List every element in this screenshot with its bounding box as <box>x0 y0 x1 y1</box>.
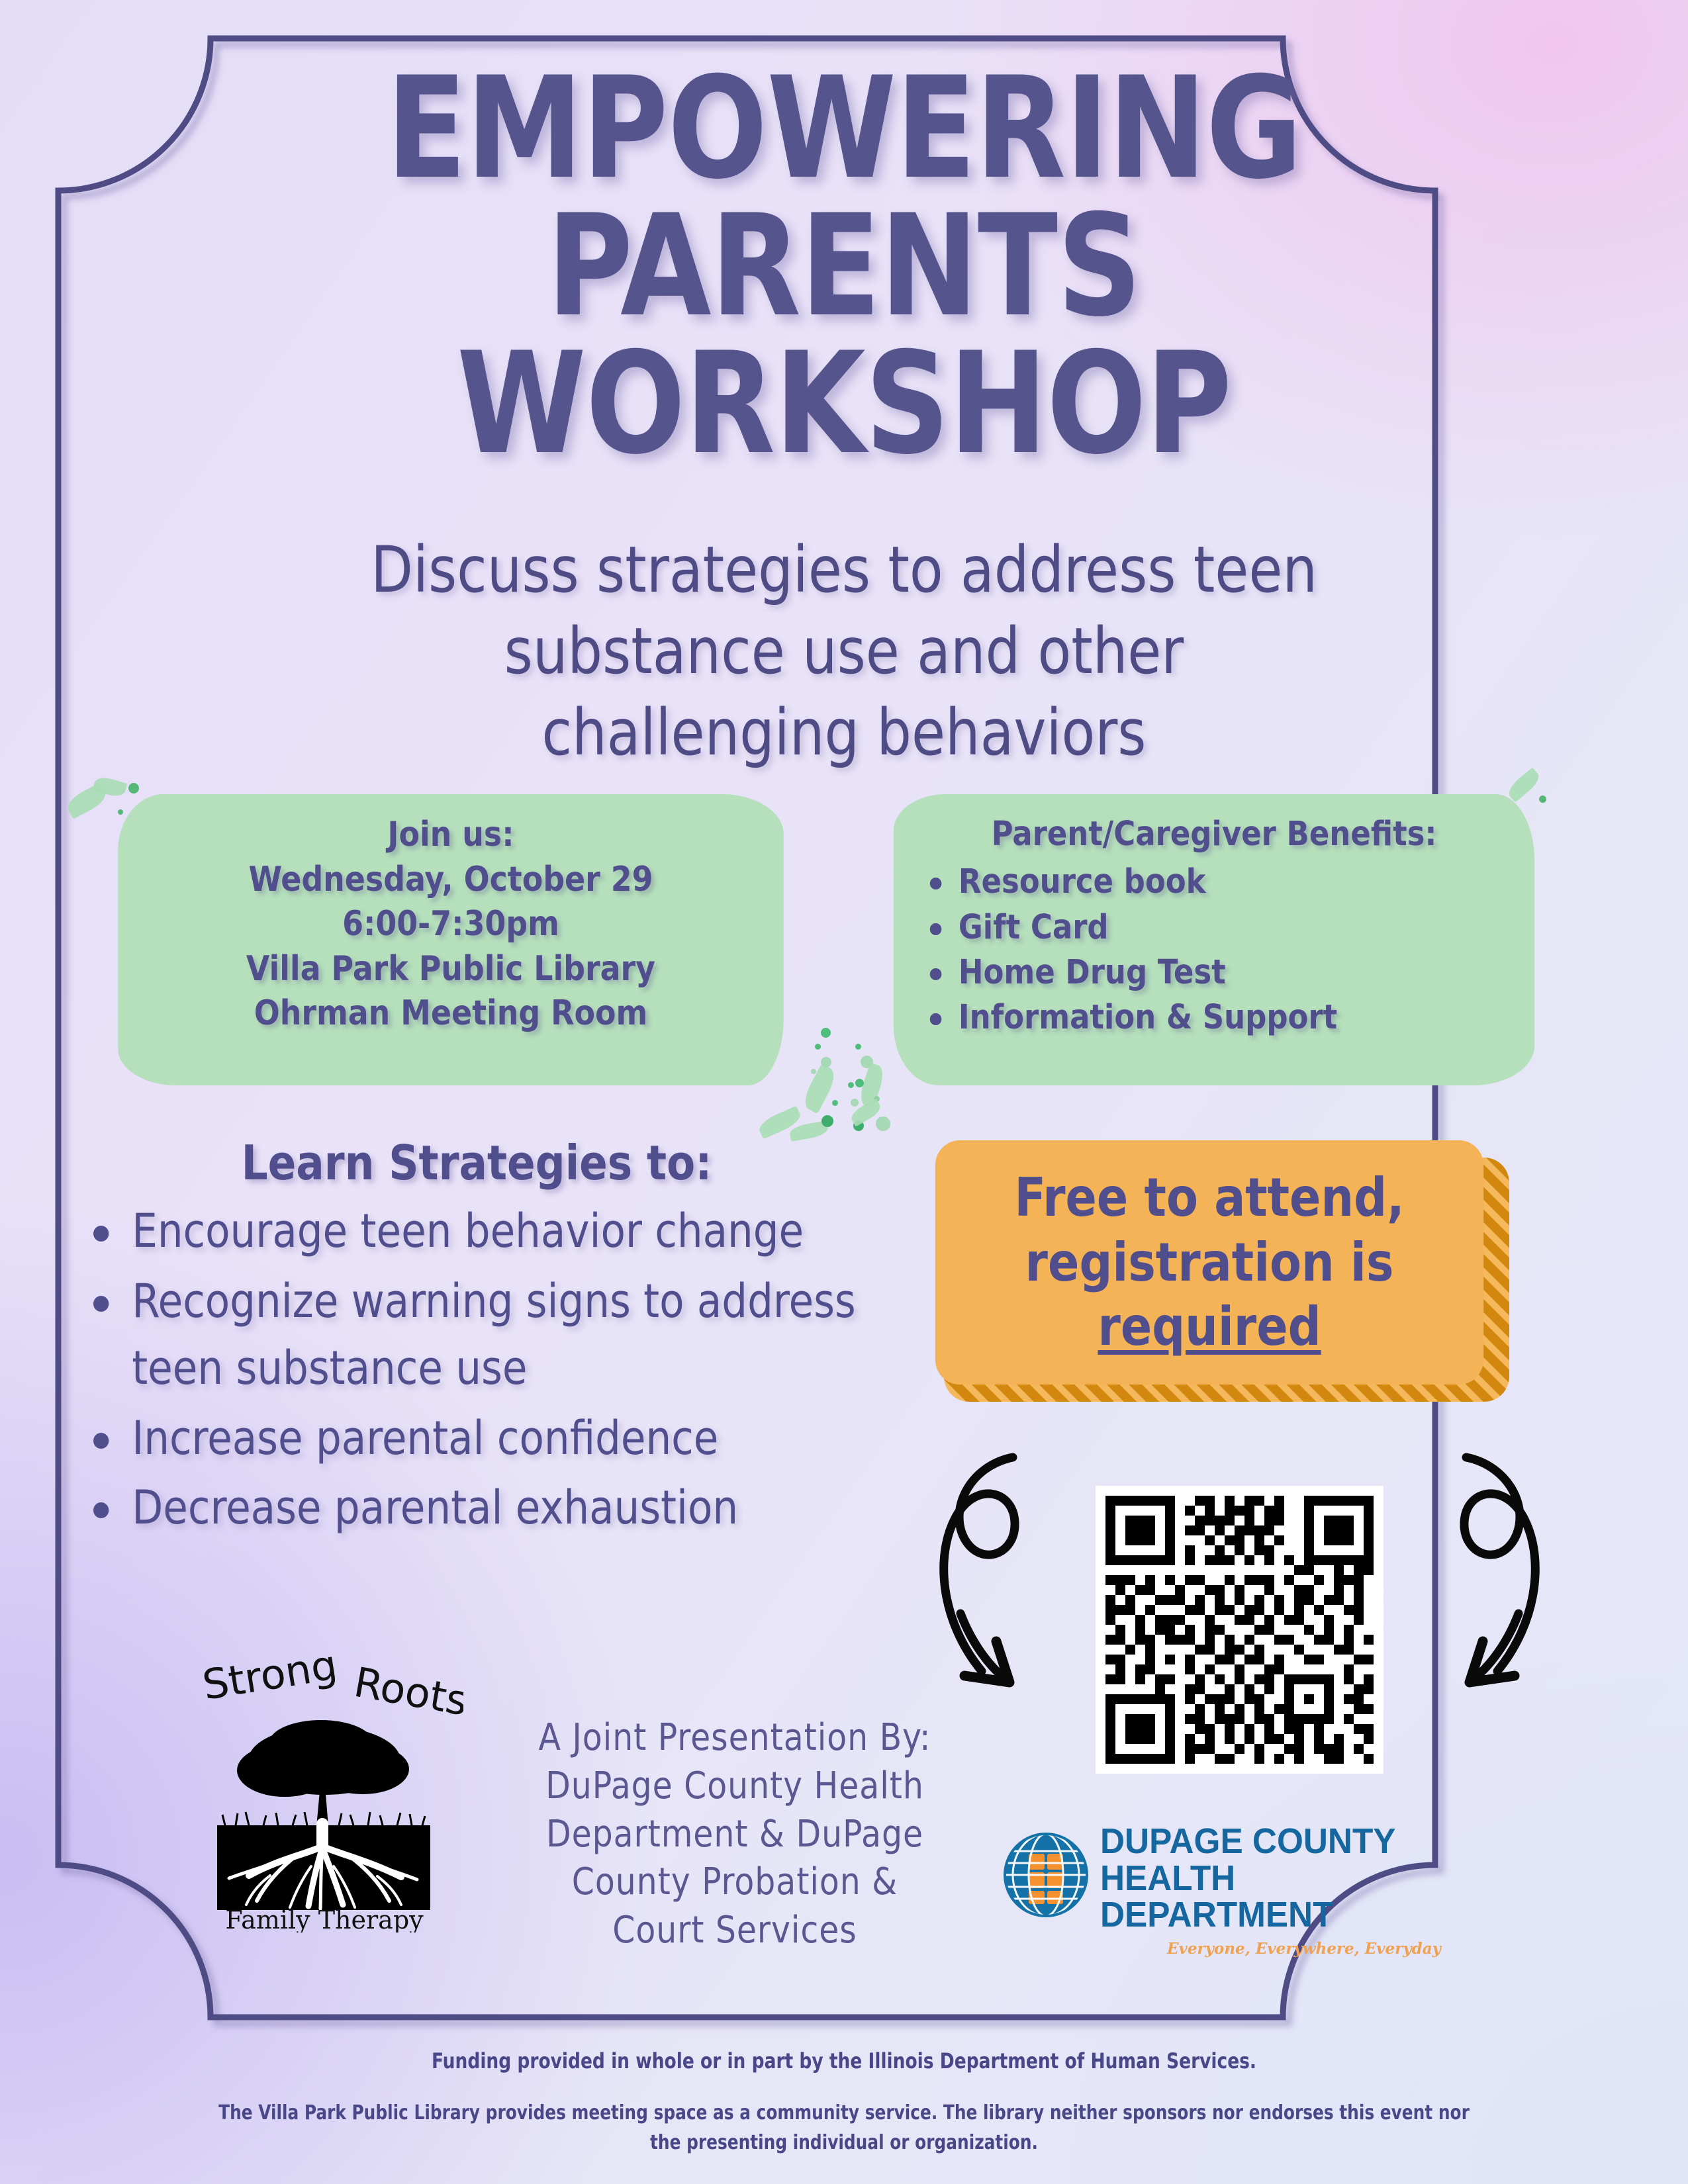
join-line-5: Ohrman Meeting Room <box>118 991 783 1036</box>
arrow-right-icon <box>1383 1443 1549 1727</box>
dupage-tagline: Everyone, Everywhere, Everyday <box>1100 1940 1441 1958</box>
registration-callout: Free to attend, registration is required <box>927 1140 1509 1402</box>
leaf-shape <box>800 1064 839 1114</box>
dot-shape <box>821 1057 831 1068</box>
registration-required-underline: required <box>1098 1296 1321 1357</box>
dot-shape <box>855 1079 864 1087</box>
registration-line-3: required <box>1098 1295 1321 1359</box>
disclaimer-line-1: The Villa Park Public Library provides m… <box>140 2098 1547 2128</box>
leaf-shape <box>849 1098 884 1126</box>
joint-line-4: County Probation & <box>491 1858 978 1907</box>
dot-shape <box>128 783 139 794</box>
joint-line-1: A Joint Presentation By: <box>491 1714 978 1762</box>
join-line-3: 6:00-7:30pm <box>118 902 783 947</box>
dot-shape <box>876 1116 890 1131</box>
event-details-box: Join us: Wednesday, October 29 6:00-7:30… <box>118 794 783 1085</box>
dot-shape <box>851 1099 859 1107</box>
title-line-3: WORKSHOP <box>59 335 1629 473</box>
join-line-4: Villa Park Public Library <box>118 947 783 992</box>
disclaimer-line-2: the presenting individual or organizatio… <box>140 2128 1547 2158</box>
benefits-box: Parent/Caregiver Benefits: Resource book… <box>894 794 1534 1085</box>
registration-line-1: Free to attend, <box>1014 1165 1404 1230</box>
page-title: EMPOWERING PARENTS WORKSHOP <box>59 60 1629 472</box>
list-item: Information & Support <box>959 996 1518 1040</box>
strategies-list: Encourage teen behavior change Recognize… <box>73 1198 882 1545</box>
joint-presentation-text: A Joint Presentation By: DuPage County H… <box>491 1714 978 1955</box>
list-item: Encourage teen behavior change <box>73 1198 882 1265</box>
benefits-heading: Parent/Caregiver Benefits: <box>910 813 1517 856</box>
dot-shape <box>861 1056 873 1068</box>
list-item: Decrease parental exhaustion <box>73 1475 882 1542</box>
list-item: Home Drug Test <box>959 951 1518 995</box>
joint-line-3: Department & DuPage <box>491 1811 978 1859</box>
title-line-1: EMPOWERING <box>59 60 1629 197</box>
funding-footer: Funding provided in whole or in part by … <box>68 2048 1620 2073</box>
strong-roots-subtitle: Family Therapy <box>225 1905 424 1933</box>
dot-shape <box>821 1028 831 1038</box>
leaf-shape <box>1505 767 1543 802</box>
dot-shape <box>848 1082 854 1088</box>
list-item: Resource book <box>959 860 1518 904</box>
join-line-2: Wednesday, October 29 <box>118 858 783 903</box>
dot-shape <box>874 1096 880 1102</box>
globe-icon <box>1000 1829 1092 1921</box>
dot-shape <box>815 1044 821 1050</box>
dot-shape <box>811 1069 816 1074</box>
strong-roots-word1: Strong <box>199 1648 340 1709</box>
dot-shape <box>855 1044 861 1050</box>
strong-roots-logo: Strong Roots <box>185 1648 463 1933</box>
registration-box: Free to attend, registration is required <box>935 1140 1483 1385</box>
joint-line-2: DuPage County Health <box>491 1762 978 1811</box>
subtitle-line-3: challenging behaviors <box>224 692 1464 774</box>
leaf-shape <box>64 782 110 819</box>
leaf-shape <box>93 775 128 799</box>
strategies-heading: Learn Strategies to: <box>104 1135 849 1191</box>
dot-shape <box>821 1115 833 1127</box>
joint-line-5: Court Services <box>491 1907 978 1955</box>
title-line-2: PARENTS <box>59 197 1629 335</box>
flyer-page: EMPOWERING PARENTS WORKSHOP Discuss stra… <box>0 0 1688 2184</box>
leaf-shape <box>857 1063 887 1109</box>
dot-shape <box>1539 796 1546 803</box>
list-item: Recognize warning signs to address teen … <box>73 1268 882 1402</box>
list-item: Increase parental confidence <box>73 1405 882 1473</box>
strong-roots-word2: Roots <box>350 1658 463 1725</box>
disclaimer-footer: The Villa Park Public Library provides m… <box>68 2098 1620 2158</box>
leaf-shape <box>757 1106 804 1140</box>
dot-shape <box>853 1120 864 1131</box>
dupage-line-1: DUPAGE COUNTY <box>1100 1823 1432 1860</box>
dupage-line-2: HEALTH DEPARTMENT <box>1100 1860 1432 1934</box>
arrow-left-icon <box>930 1443 1096 1727</box>
subtitle-line-2: substance use and other <box>224 611 1464 692</box>
dupage-logo-text: DUPAGE COUNTY HEALTH DEPARTMENT Everyone… <box>1100 1823 1450 1958</box>
benefits-list: Resource book Gift Card Home Drug Test I… <box>910 860 1517 1040</box>
qr-code[interactable] <box>1096 1486 1383 1774</box>
join-line-1: Join us: <box>118 813 783 858</box>
page-subtitle: Discuss strategies to address teen subst… <box>224 529 1464 774</box>
registration-line-2: registration is <box>1025 1230 1394 1295</box>
dupage-health-department-logo: DUPAGE COUNTY HEALTH DEPARTMENT Everyone… <box>1000 1823 1450 1949</box>
dot-shape <box>832 1100 838 1106</box>
list-item: Gift Card <box>959 906 1518 950</box>
subtitle-line-1: Discuss strategies to address teen <box>224 529 1464 611</box>
